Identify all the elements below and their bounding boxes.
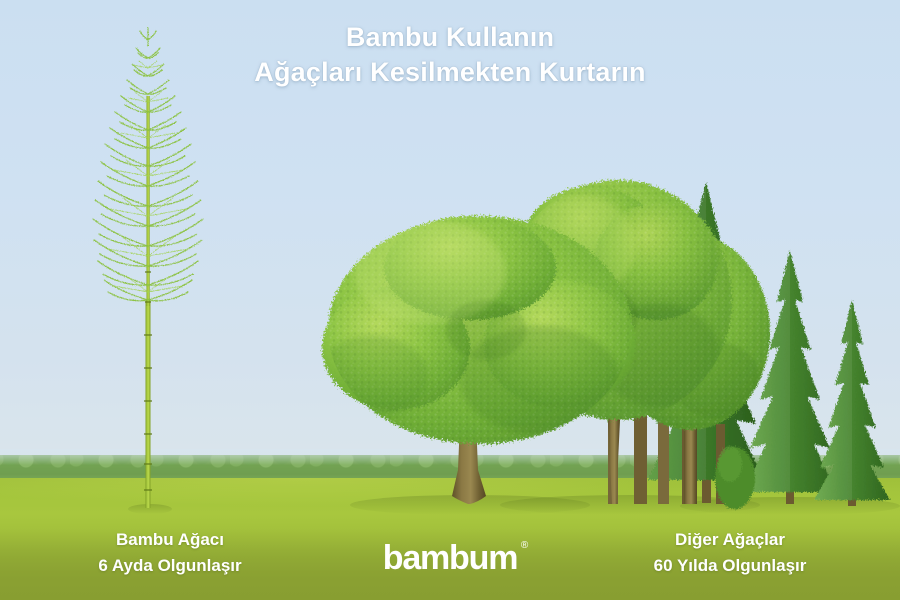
page-title: Bambu Kullanın Ağaçları Kesilmekten Kurt…: [0, 20, 900, 90]
bamboo-plant: [93, 28, 203, 508]
poster-canvas: Bambu Kullanın Ağaçları Kesilmekten Kurt…: [0, 0, 900, 600]
deciduous-tree-icon: [316, 216, 636, 504]
headline-line-1: Bambu Kullanın: [346, 22, 554, 52]
scene-illustration: [0, 0, 900, 600]
brand-logo: bambum ®: [0, 540, 900, 576]
headline-line-2: Ağaçları Kesilmekten Kurtarın: [0, 55, 900, 90]
logo-wrap: bambum ®: [383, 540, 517, 576]
trademark-icon: ®: [521, 541, 528, 551]
logo-wordmark: bambum: [383, 539, 517, 577]
ground-shadows: [128, 495, 900, 515]
